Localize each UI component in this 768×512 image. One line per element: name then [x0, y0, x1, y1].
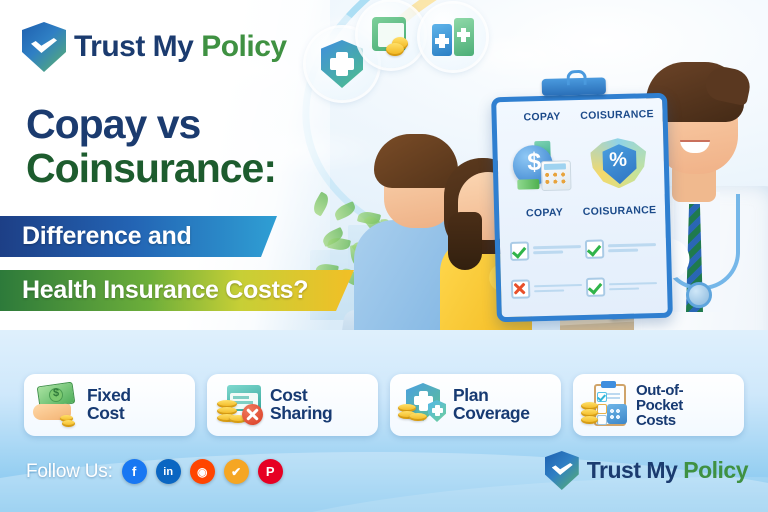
- subtitle-banner-1: Difference and: [0, 216, 277, 257]
- page-title: Copay vs Coinsurance:: [26, 104, 276, 190]
- logo-text: Trust My Policy: [587, 459, 748, 482]
- pocket-icon[interactable]: ✔: [224, 459, 249, 484]
- title-line-2: Coinsurance:: [26, 148, 276, 190]
- reddit-icon[interactable]: ◉: [190, 459, 215, 484]
- feature-card-out-of-pocket[interactable]: Out-of-PocketCosts: [573, 374, 744, 436]
- text-lines: [534, 284, 582, 293]
- text-lines: [533, 245, 581, 254]
- logo-text-part2: Policy: [683, 457, 748, 483]
- clipboard-subheader-coinsurance: COISURANCE: [582, 204, 658, 228]
- stethoscope-chestpiece: [686, 282, 712, 308]
- follow-us-label: Follow Us:: [26, 461, 113, 483]
- clipboard-subheader-copay: COPAY: [507, 206, 583, 230]
- logo-text-part1: Trust My: [587, 457, 678, 483]
- subtitle-banner-2: Health Insurance Costs?: [0, 270, 354, 311]
- text-lines: [608, 244, 656, 253]
- check-icon: [586, 277, 605, 296]
- clipboard-coins-icon: [358, 2, 424, 68]
- feature-cards: $ FixedCost: [24, 374, 744, 436]
- subtitle-banner-1-text: Difference and: [22, 222, 191, 251]
- hospital-building-icon: [420, 4, 486, 70]
- coins-document-x-icon: [215, 382, 263, 428]
- title-line-1: Copay vs: [26, 104, 276, 146]
- feature-card-out-of-pocket-label: Out-of-PocketCosts: [636, 383, 683, 428]
- clipboard-calculator-icon: [581, 382, 629, 428]
- clipboard-row-copay-2: [509, 270, 585, 307]
- text-lines: [609, 282, 657, 291]
- feature-card-fixed-cost-label: FixedCost: [87, 387, 131, 423]
- feature-card-cost-sharing[interactable]: CostSharing: [207, 374, 378, 436]
- pinterest-icon[interactable]: P: [258, 459, 283, 484]
- shield-check-icon: [22, 22, 66, 72]
- logo-text: Trust My Policy: [74, 32, 287, 62]
- man-hair: [374, 134, 458, 188]
- subtitle-banner-2-text: Health Insurance Costs?: [22, 276, 308, 305]
- check-icon: [510, 241, 529, 260]
- linkedin-icon[interactable]: in: [156, 459, 181, 484]
- infographic-canvas: $ COPAY COISURANCE $: [0, 0, 768, 512]
- comparison-clipboard: COPAY COISURANCE $ %: [491, 93, 673, 323]
- shield-plus-coins-icon: [398, 382, 446, 428]
- percent-badge-icon: %: [580, 133, 656, 193]
- shield-check-icon: [545, 451, 579, 490]
- clipboard-row-coinsurance-1: [583, 230, 659, 267]
- logo-bottom[interactable]: Trust My Policy: [545, 451, 748, 490]
- check-icon: [585, 239, 604, 258]
- facebook-icon[interactable]: f: [122, 459, 147, 484]
- feature-card-cost-sharing-label: CostSharing: [270, 387, 332, 423]
- logo-text-part1: Trust My: [74, 30, 193, 63]
- feature-card-plan-coverage[interactable]: PlanCoverage: [390, 374, 561, 436]
- follow-us: Follow Us: f in ◉ ✔ P: [26, 459, 283, 484]
- feature-card-fixed-cost[interactable]: $ FixedCost: [24, 374, 195, 436]
- cross-icon: [511, 279, 530, 298]
- logo-top[interactable]: Trust My Policy: [22, 22, 287, 72]
- clipboard-header-copay: COPAY: [504, 110, 580, 134]
- clipboard-row-coinsurance-2: [584, 268, 660, 305]
- clipboard-header-coinsurance: COISURANCE: [579, 108, 655, 132]
- hand-money-icon: $: [32, 382, 80, 428]
- clipboard-row-copay-1: [508, 232, 584, 269]
- dollar-coin-calculator-icon: $: [505, 135, 581, 195]
- feature-card-plan-coverage-label: PlanCoverage: [453, 387, 530, 423]
- woman-hair-front: [448, 212, 482, 270]
- logo-text-part2: Policy: [201, 30, 286, 63]
